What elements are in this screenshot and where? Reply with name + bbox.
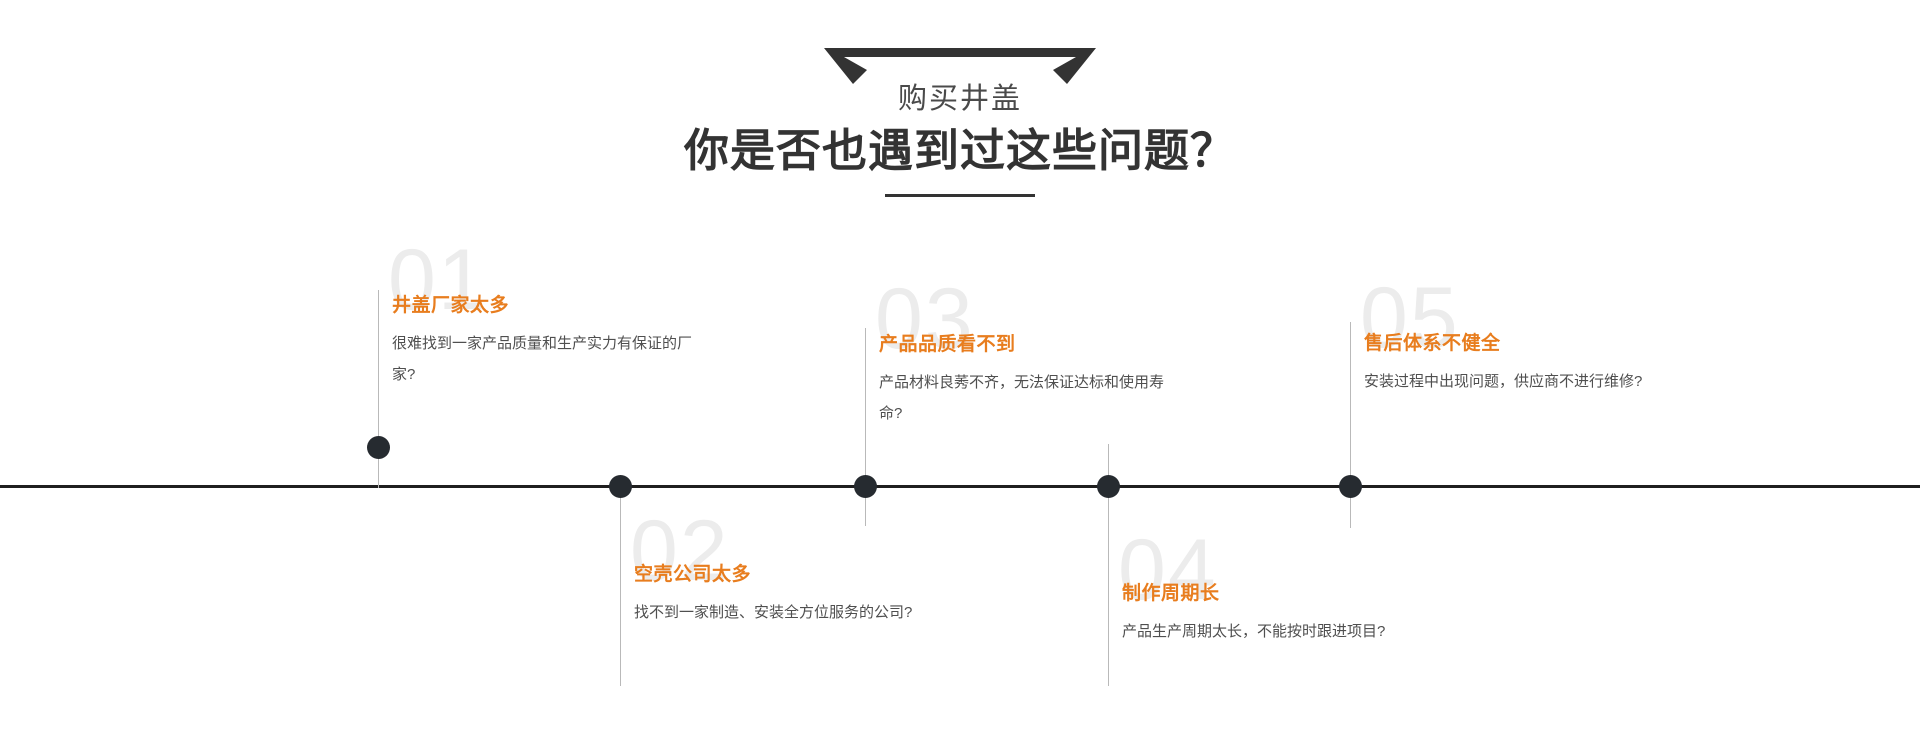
item-title-02: 空壳公司太多 [634,562,964,588]
item-desc-05: 安装过程中出现问题，供应商不进行维修? [1364,366,1664,397]
bracket-trapezoid-icon [824,48,1096,84]
item-desc-04: 产品生产周期太长，不能按时跟进项目? [1122,616,1422,647]
item-title-01: 井盖厂家太多 [392,293,722,319]
timeline-item-04[interactable]: 04 制作周期长 产品生产周期太长，不能按时跟进项目? [1122,581,1452,647]
item-title-05: 售后体系不健全 [1364,331,1694,357]
timeline-item-03[interactable]: 03 产品品质看不到 产品材料良莠不齐，无法保证达标和使用寿命? [879,332,1209,429]
timeline-item-01[interactable]: 01 井盖厂家太多 很难找到一家产品质量和生产实力有保证的厂家? [392,293,722,390]
timeline-node-03[interactable] [854,475,877,498]
timeline-axis [0,485,1920,488]
header-subtitle: 购买井盖 [0,78,1920,120]
timeline-item-02[interactable]: 02 空壳公司太多 找不到一家制造、安装全方位服务的公司? [634,562,964,628]
timeline-node-04[interactable] [1097,475,1120,498]
page-root: 购买井盖 你是否也遇到过这些问题？ 01 井盖厂家太多 很难找到一家产品质量和生… [0,0,1920,739]
title-underline-rule [885,194,1035,197]
item-desc-03: 产品材料良莠不齐，无法保证达标和使用寿命? [879,367,1179,429]
timeline-node-05[interactable] [1339,475,1362,498]
item-title-04: 制作周期长 [1122,581,1452,607]
connector-stem-02 [620,486,621,686]
page-header: 购买井盖 你是否也遇到过这些问题？ [0,48,1920,197]
item-title-03: 产品品质看不到 [879,332,1209,358]
item-desc-02: 找不到一家制造、安装全方位服务的公司? [634,597,934,628]
timeline-node-02[interactable] [609,475,632,498]
item-desc-01: 很难找到一家产品质量和生产实力有保证的厂家? [392,328,692,390]
timeline-node-01[interactable] [367,436,390,459]
timeline-item-05[interactable]: 05 售后体系不健全 安装过程中出现问题，供应商不进行维修? [1364,331,1694,397]
page-title: 你是否也遇到过这些问题？ [0,122,1920,180]
